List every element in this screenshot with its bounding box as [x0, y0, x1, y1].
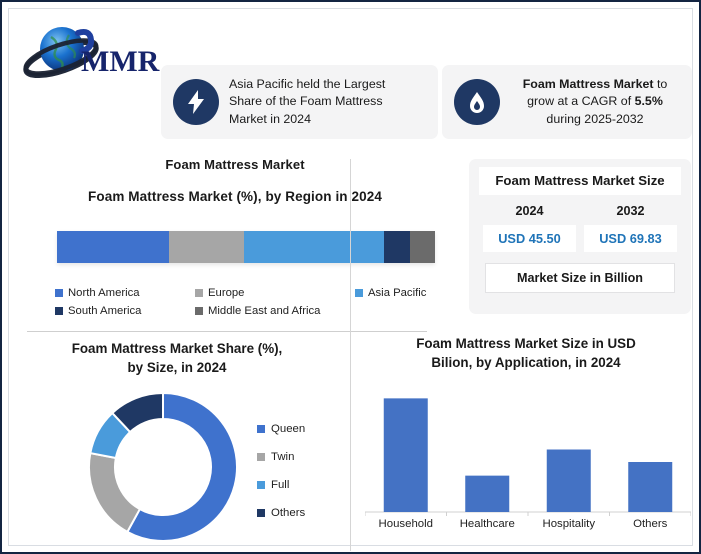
region-chart-subtitle: Foam Mattress Market (%), by Region in 2… — [9, 189, 461, 204]
region-legend-label: Europe — [208, 287, 244, 299]
donut-legend-item: Others — [257, 507, 337, 519]
market-size-2024-col: 2024 USD 45.50 — [479, 204, 580, 252]
legend-swatch-icon — [257, 425, 265, 433]
callout2-line1: Foam Mattress Market to — [510, 76, 680, 93]
donut-title-line2: by Size, in 2024 — [27, 358, 327, 377]
legend-swatch-icon — [257, 481, 265, 489]
donut-legend-label: Twin — [271, 451, 294, 463]
region-legend-item: North America — [55, 287, 195, 299]
region-legend-label: North America — [68, 287, 140, 299]
app-bar-hospitality — [547, 450, 591, 513]
application-bar-chart — [365, 381, 691, 516]
legend-swatch-icon — [257, 509, 265, 517]
app-category-label: Household — [365, 518, 447, 530]
horizontal-divider — [27, 331, 427, 332]
market-size-2024-label: 2024 — [479, 204, 580, 218]
flame-icon — [454, 79, 500, 125]
donut-legend-label: Full — [271, 479, 289, 491]
globe-icon: MMR — [21, 23, 161, 85]
region-legend-item: Middle East and Africa — [195, 305, 355, 317]
donut-legend-label: Queen — [271, 423, 305, 435]
app-bar-household — [384, 398, 428, 512]
app-title-line2: Bilion, by Application, in 2024 — [361, 353, 691, 372]
region-stacked-bar — [57, 231, 435, 263]
market-size-2024-value: USD 45.50 — [483, 225, 576, 252]
legend-swatch-icon — [195, 289, 203, 297]
application-chart-title: Foam Mattress Market Size in USD Bilion,… — [361, 334, 691, 373]
legend-swatch-icon — [355, 289, 363, 297]
mmr-logo: MMR — [21, 23, 161, 85]
market-size-heading: Foam Mattress Market Size — [479, 167, 681, 195]
donut-legend-item: Full — [257, 479, 337, 491]
region-legend-label: South America — [68, 305, 141, 317]
region-legend-label: Middle East and Africa — [208, 305, 320, 317]
market-size-2032-value: USD 69.83 — [584, 225, 677, 252]
vertical-divider — [350, 159, 351, 551]
donut-legend-item: Queen — [257, 423, 337, 435]
app-bar-others — [628, 462, 672, 512]
app-bar-healthcare — [465, 476, 509, 512]
application-category-labels: HouseholdHealthcareHospitalityOthers — [365, 518, 691, 530]
callout2-line3: during 2025-2032 — [510, 111, 680, 128]
infographic-page: MMR Asia Pacific held the Largest Share … — [0, 0, 701, 554]
callout2-line2: grow at a CAGR of 5.5% — [510, 93, 680, 110]
region-segment-south-america — [384, 231, 410, 263]
region-legend-label: Asia Pacific — [368, 287, 426, 299]
callout-cagr-text: Foam Mattress Market to grow at a CAGR o… — [510, 76, 680, 127]
market-size-2032-label: 2032 — [580, 204, 681, 218]
app-category-label: Others — [610, 518, 692, 530]
legend-swatch-icon — [55, 307, 63, 315]
callout2-line1-bold: Foam Mattress Market — [523, 77, 654, 91]
infographic-inner-frame: MMR Asia Pacific held the Largest Share … — [8, 8, 693, 546]
app-title-line1: Foam Mattress Market Size in USD — [361, 334, 691, 353]
callout2-line1-rest: to — [654, 77, 668, 91]
donut-legend-label: Others — [271, 507, 305, 519]
market-size-panel: Foam Mattress Market Size 2024 USD 45.50… — [469, 159, 691, 314]
region-legend-item: Asia Pacific — [355, 287, 455, 299]
donut-legend: QueenTwinFullOthers — [257, 423, 337, 535]
donut-slice-twin — [89, 453, 140, 532]
region-segment-europe — [169, 231, 245, 263]
callout1-line2: Share of the Foam Mattress — [229, 93, 385, 110]
legend-swatch-icon — [257, 453, 265, 461]
market-size-years: 2024 USD 45.50 2032 USD 69.83 — [479, 204, 681, 252]
legend-swatch-icon — [55, 289, 63, 297]
region-segment-north-america — [57, 231, 169, 263]
callout1-line1: Asia Pacific held the Largest — [229, 76, 385, 93]
donut-chart-title: Foam Mattress Market Share (%), by Size,… — [27, 339, 327, 378]
region-legend-item: South America — [55, 305, 195, 317]
region-segment-asia-pacific — [244, 231, 384, 263]
callout-asia-pacific: Asia Pacific held the Largest Share of t… — [161, 65, 438, 139]
callout2-line2-pre: grow at a CAGR of — [527, 94, 634, 108]
donut-legend-item: Twin — [257, 451, 337, 463]
callout1-line3: Market in 2024 — [229, 111, 385, 128]
region-chart-title: Foam Mattress Market — [9, 157, 461, 172]
legend-swatch-icon — [195, 307, 203, 315]
lightning-bolt-icon — [173, 79, 219, 125]
market-size-2032-col: 2032 USD 69.83 — [580, 204, 681, 252]
donut-chart — [87, 391, 239, 543]
logo-wordmark: MMR — [81, 45, 160, 78]
region-legend-item: Europe — [195, 287, 355, 299]
region-legend: North AmericaEuropeAsia PacificSouth Ame… — [55, 287, 455, 323]
app-category-label: Healthcare — [447, 518, 529, 530]
callout-cagr: Foam Mattress Market to grow at a CAGR o… — [442, 65, 692, 139]
app-category-label: Hospitality — [528, 518, 610, 530]
donut-title-line1: Foam Mattress Market Share (%), — [27, 339, 327, 358]
market-size-unit-note: Market Size in Billion — [485, 263, 675, 293]
callout-asia-pacific-text: Asia Pacific held the Largest Share of t… — [229, 76, 385, 127]
region-segment-middle-east-and-africa — [410, 231, 435, 263]
callout2-cagr-value: 5.5% — [635, 94, 663, 108]
